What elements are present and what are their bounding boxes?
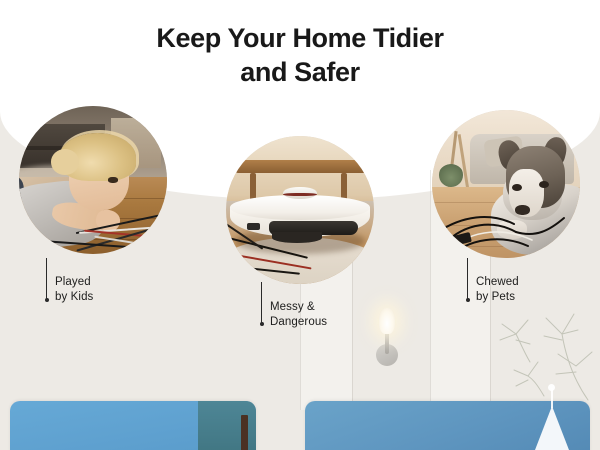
vacuum-sensor bbox=[247, 223, 260, 230]
connector-line bbox=[467, 258, 468, 300]
connector-line bbox=[46, 258, 47, 300]
caption-line-1: Messy & bbox=[270, 300, 327, 315]
feature-caption-played-by-kids: Played by Kids bbox=[55, 275, 93, 305]
connector-line bbox=[261, 282, 262, 324]
caption-line-2: by Pets bbox=[476, 290, 519, 305]
banner-stage: Keep Your Home Tidier and Safer bbox=[0, 0, 600, 450]
feature-caption-messy-and-dangerous: Messy & Dangerous bbox=[270, 300, 327, 330]
bottom-panel-left bbox=[10, 401, 256, 450]
scene-robot-vacuum bbox=[226, 136, 374, 284]
dog-cable-bundle bbox=[432, 202, 580, 258]
scene-kid bbox=[19, 106, 167, 254]
feature-image-chewed-by-pets bbox=[432, 110, 580, 258]
page-title: Keep Your Home Tidier and Safer bbox=[0, 22, 600, 90]
feature-image-messy-and-dangerous bbox=[226, 136, 374, 284]
scene-dog bbox=[432, 110, 580, 258]
feature-caption-chewed-by-pets: Chewed by Pets bbox=[476, 275, 519, 305]
bottom-panel-left-doorjamb bbox=[241, 415, 248, 450]
headline-line-2: and Safer bbox=[0, 56, 600, 90]
sconce-bulb bbox=[379, 308, 395, 334]
connector-dot bbox=[260, 322, 264, 326]
pendant-lantern-icon bbox=[535, 396, 569, 450]
wall-sconce-lamp-icon bbox=[370, 310, 404, 380]
connector-dot bbox=[466, 298, 470, 302]
headline-line-1: Keep Your Home Tidier bbox=[156, 23, 443, 53]
wall-seam-3 bbox=[430, 170, 431, 410]
vacuum-side-brush bbox=[272, 232, 322, 243]
vacuum-room-table bbox=[235, 160, 371, 173]
vacuum-lidar-band bbox=[283, 193, 316, 197]
connector-dot bbox=[45, 298, 49, 302]
caption-line-1: Chewed bbox=[476, 275, 519, 290]
dog-room-plant bbox=[439, 163, 463, 187]
kid-eye bbox=[108, 177, 118, 183]
lantern-shade bbox=[535, 406, 569, 450]
feature-image-played-by-kids bbox=[19, 106, 167, 254]
caption-line-2: Dangerous bbox=[270, 315, 327, 330]
decorative-branch-icon bbox=[470, 300, 600, 405]
kid-cable-bundle bbox=[75, 218, 167, 245]
kid-hair bbox=[59, 133, 136, 182]
caption-line-2: by Kids bbox=[55, 290, 93, 305]
lantern-stem bbox=[551, 388, 553, 408]
caption-line-1: Played bbox=[55, 275, 93, 290]
